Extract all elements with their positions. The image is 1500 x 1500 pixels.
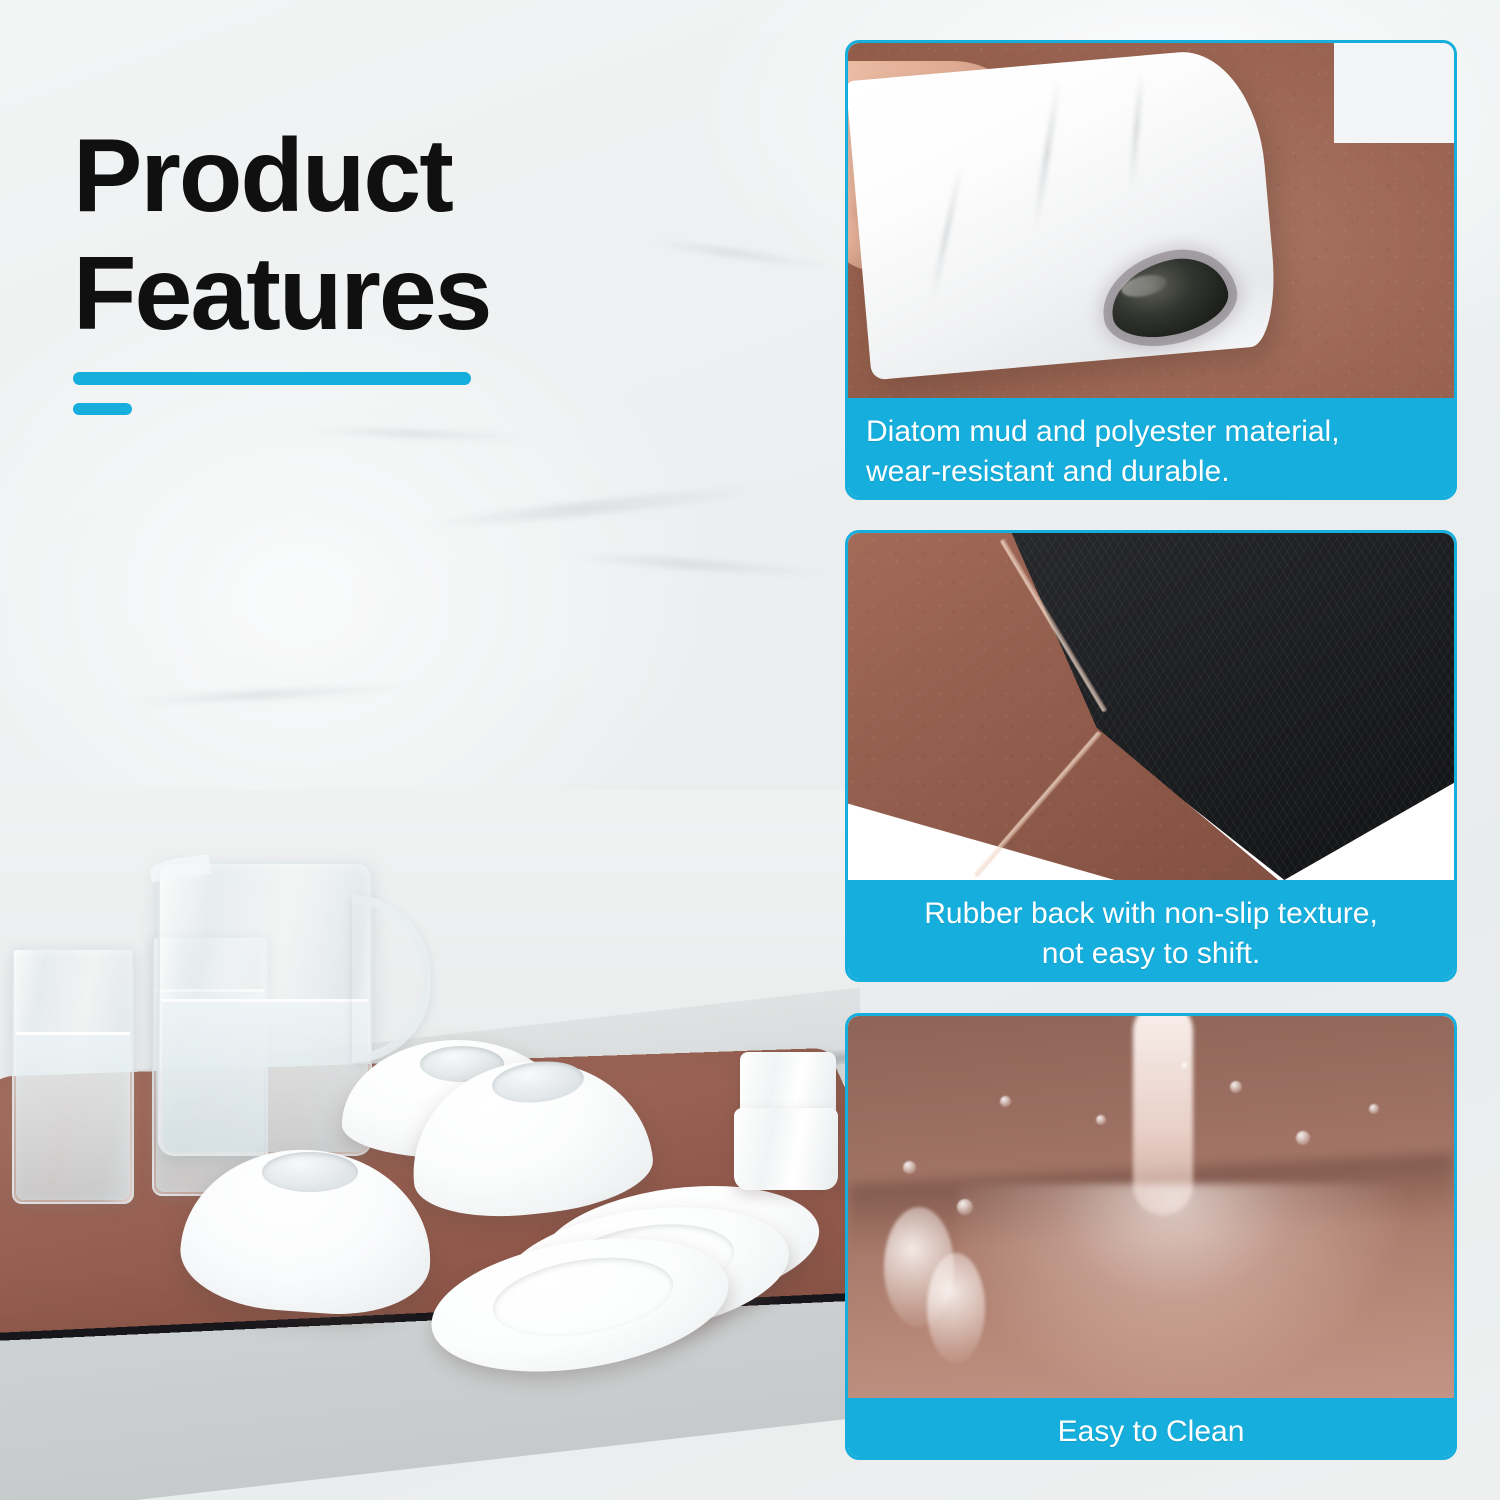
caption-line-1: Rubber back with non-slip texture, bbox=[866, 894, 1436, 934]
feature-photo-material bbox=[848, 43, 1454, 398]
photo-background-corner bbox=[1334, 43, 1454, 143]
caption-line-2: wear-resistant and durable. bbox=[866, 452, 1436, 492]
ramekin-lower bbox=[734, 1108, 838, 1190]
marble-vein bbox=[560, 550, 840, 580]
feature-panel-rubber-back[interactable]: Rubber back with non-slip texture, not e… bbox=[845, 530, 1457, 982]
title-accent-bar-short bbox=[73, 403, 132, 415]
page-title: Product Features bbox=[73, 118, 773, 353]
caption-line-1: Easy to Clean bbox=[866, 1412, 1436, 1452]
page-title-line-1: Product bbox=[73, 118, 773, 236]
title-accent-bar-long bbox=[73, 372, 471, 385]
marble-vein bbox=[420, 481, 779, 533]
caption-line-1: Diatom mud and polyester material, bbox=[866, 412, 1436, 452]
water-droplet bbox=[1000, 1096, 1011, 1107]
feature-photo-rubber-back bbox=[848, 533, 1454, 880]
feature-caption-rubber-back: Rubber back with non-slip texture, not e… bbox=[848, 880, 1454, 982]
marble-vein bbox=[120, 682, 420, 707]
water-droplet bbox=[903, 1161, 916, 1174]
white-cloth bbox=[848, 46, 1280, 381]
lifestyle-photo bbox=[0, 790, 860, 1500]
glass-pitcher bbox=[158, 862, 372, 1156]
feature-caption-material: Diatom mud and polyester material, wear-… bbox=[848, 398, 1454, 500]
water-droplet bbox=[1296, 1131, 1310, 1145]
water-splash bbox=[957, 1184, 1405, 1398]
feature-photo-easy-clean bbox=[848, 1016, 1454, 1398]
feature-panel-material[interactable]: Diatom mud and polyester material, wear-… bbox=[845, 40, 1457, 500]
glass-water bbox=[16, 1032, 130, 1200]
feature-caption-easy-clean: Easy to Clean bbox=[848, 1398, 1454, 1460]
infographic-root: Product Features bbox=[0, 0, 1500, 1500]
caption-line-2: not easy to shift. bbox=[866, 934, 1436, 974]
page-title-line-2: Features bbox=[73, 236, 773, 354]
water-droplet bbox=[1369, 1104, 1379, 1114]
water-foam bbox=[927, 1253, 985, 1363]
water-droplet bbox=[1230, 1081, 1242, 1093]
marble-vein bbox=[300, 426, 540, 442]
bowl-foot bbox=[262, 1152, 358, 1192]
pitcher-water bbox=[162, 999, 368, 1152]
drinking-glass-left bbox=[12, 948, 134, 1204]
feature-panel-easy-clean[interactable]: Easy to Clean bbox=[845, 1013, 1457, 1460]
